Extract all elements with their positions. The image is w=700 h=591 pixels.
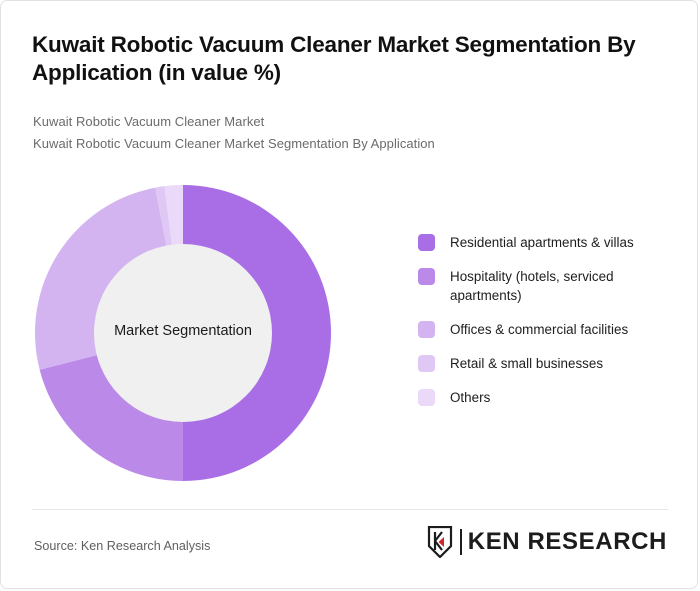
footer-divider: [32, 509, 668, 510]
legend-item[interactable]: Retail & small businesses: [418, 354, 680, 373]
subtitle-market: Kuwait Robotic Vacuum Cleaner Market: [33, 114, 264, 129]
legend-swatch-icon: [418, 389, 435, 406]
source-note: Source: Ken Research Analysis: [34, 539, 210, 553]
logo-divider: [460, 529, 462, 555]
chart-card: Kuwait Robotic Vacuum Cleaner Market Seg…: [0, 0, 698, 589]
donut-center-label: Market Segmentation: [94, 323, 272, 339]
legend-swatch-icon: [418, 234, 435, 251]
legend-item[interactable]: Others: [418, 388, 680, 407]
legend-swatch-icon: [418, 321, 435, 338]
page-title: Kuwait Robotic Vacuum Cleaner Market Seg…: [32, 31, 677, 87]
ken-research-logo: KEN RESEARCH: [427, 525, 667, 559]
legend-swatch-icon: [418, 268, 435, 285]
legend-item-label: Residential apartments & villas: [450, 233, 634, 252]
shield-k-icon: [427, 526, 453, 558]
legend-item-label: Offices & commercial facilities: [450, 320, 628, 339]
legend-swatch-icon: [418, 355, 435, 372]
subtitle-segmentation: Kuwait Robotic Vacuum Cleaner Market Seg…: [33, 136, 435, 151]
legend-item[interactable]: Hospitality (hotels, serviced apartments…: [418, 267, 680, 305]
legend-item-label: Others: [450, 388, 490, 407]
legend-item-label: Retail & small businesses: [450, 354, 603, 373]
legend-item-label: Hospitality (hotels, serviced apartments…: [450, 267, 680, 305]
chart-legend: Residential apartments & villasHospitali…: [418, 233, 680, 422]
legend-item[interactable]: Offices & commercial facilities: [418, 320, 680, 339]
legend-item[interactable]: Residential apartments & villas: [418, 233, 680, 252]
logo-text: KEN RESEARCH: [468, 528, 667, 556]
